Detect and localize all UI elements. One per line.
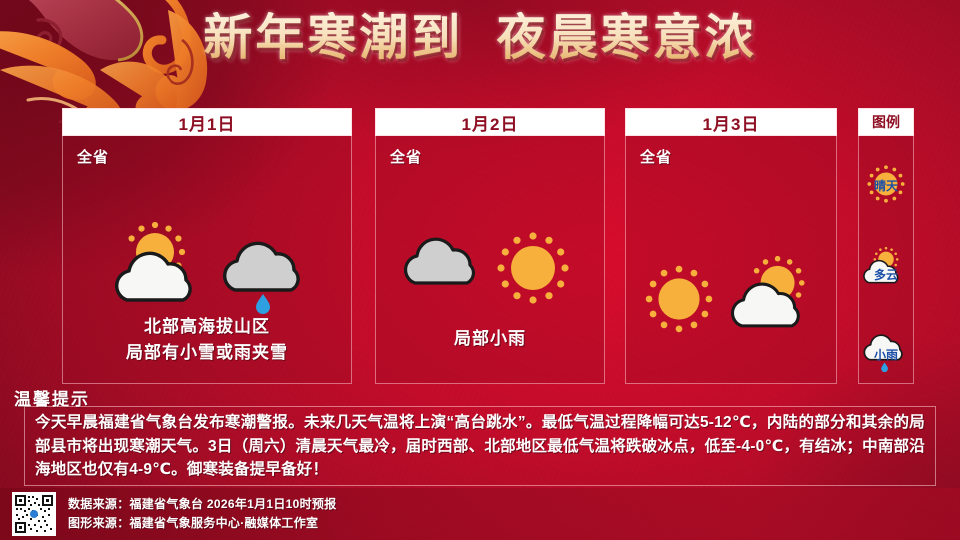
day-card-2-note-line-1: 局部小雨	[376, 326, 604, 352]
weather-infographic: 新年寒潮到 夜晨寒意浓 1月1日 全省	[0, 0, 960, 540]
day-card-1-icons	[63, 222, 351, 318]
legend-body: 晴天 多云	[858, 136, 914, 384]
qr-code-icon	[14, 494, 54, 534]
day-card-1-date: 1月1日	[62, 108, 352, 136]
day-card-2-region: 全省	[390, 146, 422, 167]
footer: 数据来源：福建省气象台 2026年1月1日10时预报 图形来源：福建省气象服务中…	[0, 488, 960, 540]
legend-panel: 图例 晴天	[858, 108, 914, 384]
day-card-2-date: 1月2日	[375, 108, 605, 136]
rain-cloud-icon	[215, 222, 315, 318]
footer-credits: 数据来源：福建省气象台 2026年1月1日10时预报 图形来源：福建省气象服务中…	[68, 495, 337, 533]
day-card-1-region: 全省	[77, 146, 109, 167]
partly-cloudy-icon	[722, 256, 826, 342]
partly-cloudy-icon	[861, 246, 911, 290]
day-card-1-body: 全省	[62, 136, 352, 384]
cloud-icon	[401, 225, 487, 311]
rain-cloud-icon	[862, 328, 910, 376]
legend-item-sunny: 晴天	[860, 162, 912, 206]
legend-header: 图例	[858, 108, 914, 136]
legend-item-rain: 小雨	[860, 330, 912, 374]
day-card-2-icons	[376, 222, 604, 314]
day-card-2: 1月2日 全省	[375, 108, 605, 384]
legend-item-cloudy: 多云	[860, 246, 912, 290]
headline: 新年寒潮到 夜晨寒意浓	[0, 12, 960, 66]
footer-data-source: 数据来源：福建省气象台 2026年1月1日10时预报	[68, 495, 337, 514]
footer-graphics-source: 图形来源：福建省气象服务中心·融媒体工作室	[68, 514, 337, 533]
headline-text: 新年寒潮到 夜晨寒意浓	[203, 12, 756, 66]
sun-icon	[862, 160, 910, 208]
day-card-3: 1月3日 全省	[625, 108, 837, 384]
day-card-2-note: 局部小雨	[376, 326, 604, 352]
day-card-1-note-line-1: 北部高海拔山区	[63, 314, 351, 340]
day-card-2-body: 全省	[375, 136, 605, 384]
day-card-1-note-line-2: 局部有小雪或雨夹雪	[63, 340, 351, 366]
sun-icon	[487, 222, 579, 314]
partly-cloudy-icon	[99, 222, 215, 318]
day-card-3-icons	[626, 256, 836, 342]
day-card-3-body: 全省	[625, 136, 837, 384]
notice-body: 今天早晨福建省气象台发布寒潮警报。未来几天气温将上演“高台跳水”。最低气温过程降…	[35, 411, 925, 482]
notice-box: 今天早晨福建省气象台发布寒潮警报。未来几天气温将上演“高台跳水”。最低气温过程降…	[24, 406, 936, 486]
day-card-1: 1月1日 全省	[62, 108, 352, 384]
day-card-3-region: 全省	[640, 146, 672, 167]
qr-code[interactable]	[12, 492, 56, 536]
day-card-1-note: 北部高海拔山区 局部有小雪或雨夹雪	[63, 314, 351, 367]
sun-icon	[636, 256, 722, 342]
day-card-3-date: 1月3日	[625, 108, 837, 136]
